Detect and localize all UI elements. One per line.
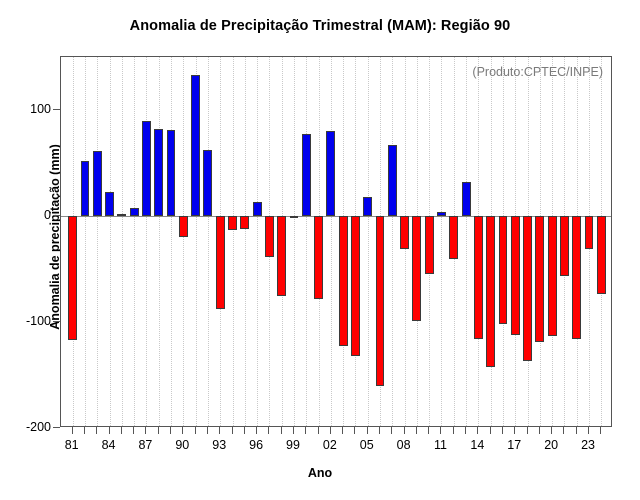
x-tick-label: 99 bbox=[286, 438, 300, 452]
x-tick bbox=[502, 427, 503, 434]
x-tick-label: 08 bbox=[397, 438, 411, 452]
bar-00 bbox=[302, 134, 311, 216]
x-tick-label: 93 bbox=[212, 438, 226, 452]
x-tick bbox=[342, 427, 343, 434]
x-tick bbox=[207, 427, 208, 434]
bar-85 bbox=[117, 214, 126, 216]
x-tick-label: 11 bbox=[434, 438, 447, 452]
bar-03 bbox=[339, 216, 348, 346]
gridline bbox=[183, 57, 184, 426]
source-annotation: (Produto:CPTEC/INPE) bbox=[472, 65, 603, 79]
x-tick bbox=[293, 427, 294, 434]
x-tick-label: 96 bbox=[249, 438, 263, 452]
bar-18 bbox=[523, 216, 532, 361]
bar-04 bbox=[351, 216, 360, 356]
x-tick bbox=[477, 427, 478, 434]
x-tick bbox=[428, 427, 429, 434]
bar-17 bbox=[511, 216, 520, 335]
bar-82 bbox=[81, 161, 90, 216]
x-tick bbox=[195, 427, 196, 434]
gridline bbox=[466, 57, 467, 426]
page-title: Anomalia de Precipitação Trimestral (MAM… bbox=[0, 18, 640, 34]
bar-12 bbox=[449, 216, 458, 259]
gridline bbox=[441, 57, 442, 426]
bar-11 bbox=[437, 212, 446, 216]
x-tick bbox=[551, 427, 552, 434]
bar-89 bbox=[167, 130, 176, 216]
x-tick bbox=[96, 427, 97, 434]
x-tick bbox=[330, 427, 331, 434]
y-tick-label: 100 bbox=[30, 102, 51, 116]
bar-24 bbox=[597, 216, 606, 294]
x-tick bbox=[318, 427, 319, 434]
y-tick bbox=[53, 215, 60, 216]
bar-07 bbox=[388, 145, 397, 216]
x-tick bbox=[440, 427, 441, 434]
bar-95 bbox=[240, 216, 249, 229]
gridline bbox=[257, 57, 258, 426]
bar-84 bbox=[105, 192, 114, 216]
gridline bbox=[208, 57, 209, 426]
y-tick bbox=[53, 321, 60, 322]
bar-86 bbox=[130, 208, 139, 216]
bar-10 bbox=[425, 216, 434, 274]
x-tick bbox=[84, 427, 85, 434]
x-tick-label: 14 bbox=[470, 438, 484, 452]
y-tick bbox=[53, 427, 60, 428]
x-tick bbox=[527, 427, 528, 434]
gridline bbox=[122, 57, 123, 426]
x-tick bbox=[109, 427, 110, 434]
bar-90 bbox=[179, 216, 188, 237]
bar-87 bbox=[142, 121, 151, 216]
gridline bbox=[110, 57, 111, 426]
x-tick bbox=[465, 427, 466, 434]
bar-21 bbox=[560, 216, 569, 276]
x-tick bbox=[453, 427, 454, 434]
x-axis-label: Ano bbox=[0, 466, 640, 480]
x-tick-label: 23 bbox=[581, 438, 595, 452]
bar-06 bbox=[376, 216, 385, 386]
x-tick bbox=[588, 427, 589, 434]
x-tick-label: 87 bbox=[138, 438, 152, 452]
plot-area: (Produto:CPTEC/INPE) bbox=[60, 56, 612, 427]
x-tick-label: 05 bbox=[360, 438, 374, 452]
x-tick bbox=[268, 427, 269, 434]
x-tick-label: 90 bbox=[175, 438, 189, 452]
x-tick bbox=[391, 427, 392, 434]
bar-19 bbox=[535, 216, 544, 342]
x-tick bbox=[256, 427, 257, 434]
bar-16 bbox=[499, 216, 508, 324]
x-tick bbox=[490, 427, 491, 434]
x-tick bbox=[244, 427, 245, 434]
bar-09 bbox=[412, 216, 421, 321]
gridline bbox=[306, 57, 307, 426]
x-tick bbox=[145, 427, 146, 434]
gridline bbox=[171, 57, 172, 426]
x-tick bbox=[379, 427, 380, 434]
x-tick bbox=[281, 427, 282, 434]
bar-23 bbox=[585, 216, 594, 249]
gridline bbox=[392, 57, 393, 426]
x-tick bbox=[182, 427, 183, 434]
bar-15 bbox=[486, 216, 495, 367]
x-tick bbox=[367, 427, 368, 434]
y-tick-label: -100 bbox=[26, 314, 51, 328]
x-tick-label: 81 bbox=[65, 438, 79, 452]
bar-14 bbox=[474, 216, 483, 339]
bar-99 bbox=[290, 216, 299, 218]
bar-02 bbox=[326, 131, 335, 216]
bar-83 bbox=[93, 151, 102, 216]
x-tick bbox=[158, 427, 159, 434]
x-tick bbox=[416, 427, 417, 434]
gridline bbox=[97, 57, 98, 426]
bar-13 bbox=[462, 182, 471, 216]
bar-22 bbox=[572, 216, 581, 339]
chart-container: Anomalia de Precipitação Trimestral (MAM… bbox=[0, 0, 640, 500]
x-tick bbox=[576, 427, 577, 434]
bar-91 bbox=[191, 75, 200, 216]
x-tick-label: 02 bbox=[323, 438, 337, 452]
y-tick-label: -200 bbox=[26, 420, 51, 434]
bar-97 bbox=[265, 216, 274, 257]
gridline bbox=[134, 57, 135, 426]
bar-88 bbox=[154, 129, 163, 216]
x-tick bbox=[232, 427, 233, 434]
gridline bbox=[233, 57, 234, 426]
bar-93 bbox=[216, 216, 225, 309]
gridline bbox=[85, 57, 86, 426]
bar-98 bbox=[277, 216, 286, 296]
bar-81 bbox=[68, 216, 77, 340]
x-tick bbox=[600, 427, 601, 434]
x-tick-label: 84 bbox=[102, 438, 116, 452]
y-tick bbox=[53, 109, 60, 110]
x-tick-label: 20 bbox=[544, 438, 558, 452]
gridline bbox=[159, 57, 160, 426]
bar-92 bbox=[203, 150, 212, 216]
bar-20 bbox=[548, 216, 557, 336]
bar-94 bbox=[228, 216, 237, 230]
x-tick bbox=[72, 427, 73, 434]
bar-08 bbox=[400, 216, 409, 249]
x-tick bbox=[219, 427, 220, 434]
x-tick bbox=[121, 427, 122, 434]
gridline bbox=[331, 57, 332, 426]
y-tick-label: 0 bbox=[44, 208, 51, 222]
gridline bbox=[368, 57, 369, 426]
x-tick bbox=[563, 427, 564, 434]
x-tick bbox=[305, 427, 306, 434]
x-tick bbox=[539, 427, 540, 434]
bar-05 bbox=[363, 197, 372, 216]
gridline bbox=[146, 57, 147, 426]
bar-01 bbox=[314, 216, 323, 299]
x-tick bbox=[133, 427, 134, 434]
x-tick-label: 17 bbox=[507, 438, 521, 452]
gridline bbox=[245, 57, 246, 426]
x-tick bbox=[514, 427, 515, 434]
bar-96 bbox=[253, 202, 262, 216]
x-tick bbox=[354, 427, 355, 434]
x-tick bbox=[404, 427, 405, 434]
gridline bbox=[294, 57, 295, 426]
x-tick bbox=[170, 427, 171, 434]
